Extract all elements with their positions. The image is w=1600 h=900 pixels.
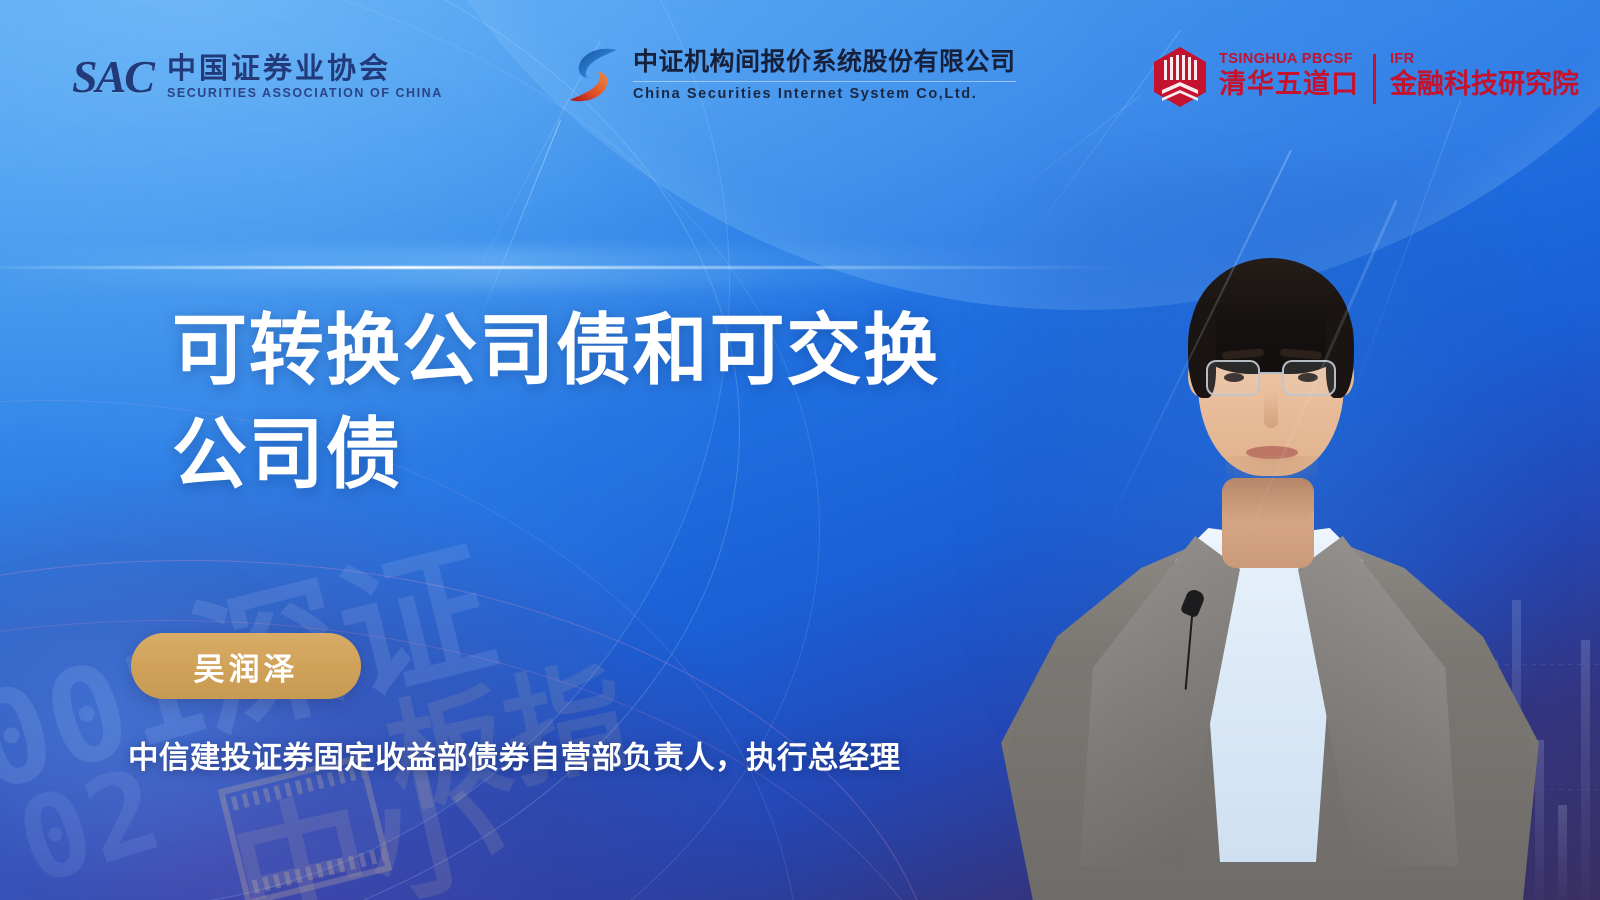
pbcsf-english-name: TSINGHUA PBCSF	[1219, 50, 1359, 69]
swoosh-icon	[566, 44, 620, 106]
speaker-portrait	[930, 160, 1600, 900]
sac-monogram: SAC	[72, 54, 153, 100]
sac-chinese-name: 中国证券业协会	[167, 55, 443, 84]
sac-english-name: SECURITIES ASSOCIATION OF CHINA	[167, 87, 443, 100]
logo-tsinghua-pbcsf-ifr: TSINGHUA PBCSF 清华五道口 IFR 金融科技研究院	[1152, 46, 1579, 108]
ifr-chinese-name: 金融科技研究院	[1390, 69, 1579, 99]
page-title-line-1: 可转换公司债和可交换	[172, 300, 1017, 404]
tsinghua-hexagon-icon	[1152, 46, 1208, 108]
speaker-name-badge: 吴润泽	[131, 633, 361, 699]
page-title-line-2: 公司债	[172, 404, 1017, 508]
speaker-title: 中信建投证券固定收益部债券自营部负责人，执行总经理	[128, 733, 901, 777]
presentation-slide: 深证 中小 板指 001 02	[0, 0, 1600, 900]
logo-securities-association-of-china: SAC 中国证券业协会 SECURITIES ASSOCIATION OF CH…	[72, 54, 443, 100]
csis-chinese-name: 中证机构间报价系统股份有限公司	[633, 47, 1016, 78]
pbcsf-chinese-name: 清华五道口	[1219, 69, 1359, 99]
page-title: 可转换公司债和可交换 公司债	[172, 300, 1017, 507]
logo-china-securities-internet-system: 中证机构间报价系统股份有限公司 China Securities Interne…	[566, 44, 1016, 106]
header-logo-bar: SAC 中国证券业协会 SECURITIES ASSOCIATION OF CH…	[0, 0, 1600, 150]
csis-english-name: China Securities Internet System Co,Ltd.	[633, 86, 1016, 103]
logo-divider	[1373, 54, 1376, 104]
speaker-name: 吴润泽	[194, 644, 299, 689]
ifr-abbreviation: IFR	[1390, 50, 1579, 69]
